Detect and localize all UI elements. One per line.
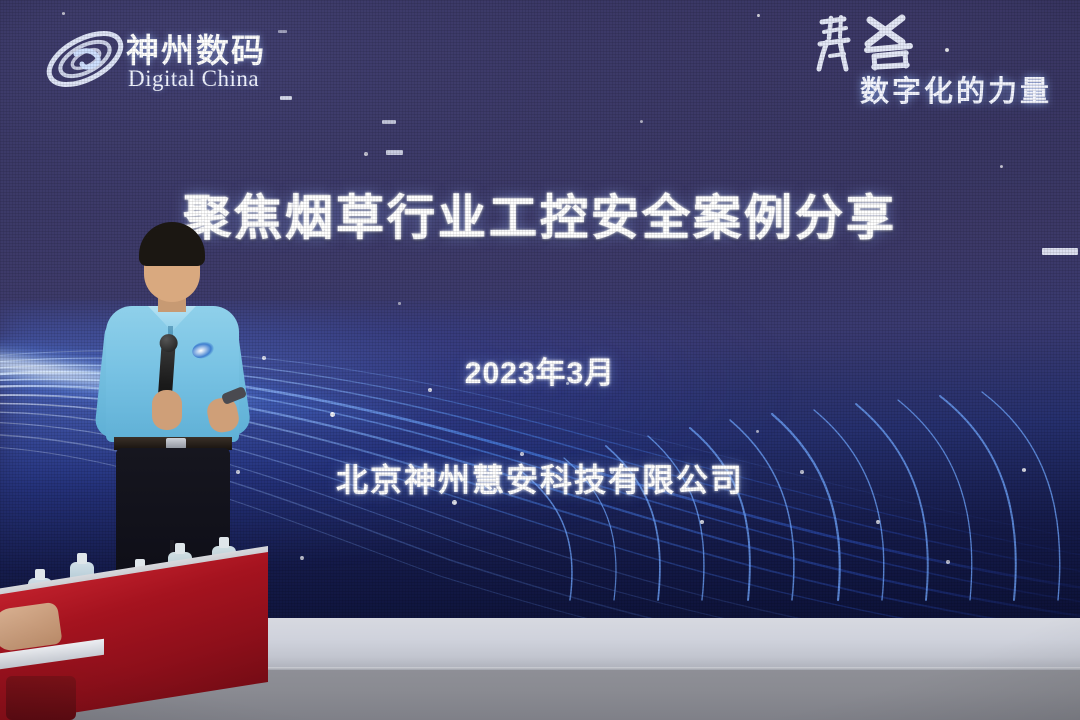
digital-china-logo: 神州数码 Digital China xyxy=(42,16,312,102)
juhe-brush-calligraphy-icon xyxy=(810,12,936,74)
event-tagline: 数字化的力量 xyxy=(860,68,1052,110)
digital-china-swirl-icon xyxy=(42,18,128,100)
speaker-hair xyxy=(139,222,205,266)
conference-photo: 神州数码 Digital China xyxy=(0,0,1080,720)
digital-china-chinese-name: 神州数码 xyxy=(126,24,266,72)
foreground-chair xyxy=(6,676,76,720)
digital-china-english-name: Digital China xyxy=(128,66,259,92)
speaker-left-hand xyxy=(152,390,182,430)
event-logo: 数字化的力量 xyxy=(796,12,1054,112)
